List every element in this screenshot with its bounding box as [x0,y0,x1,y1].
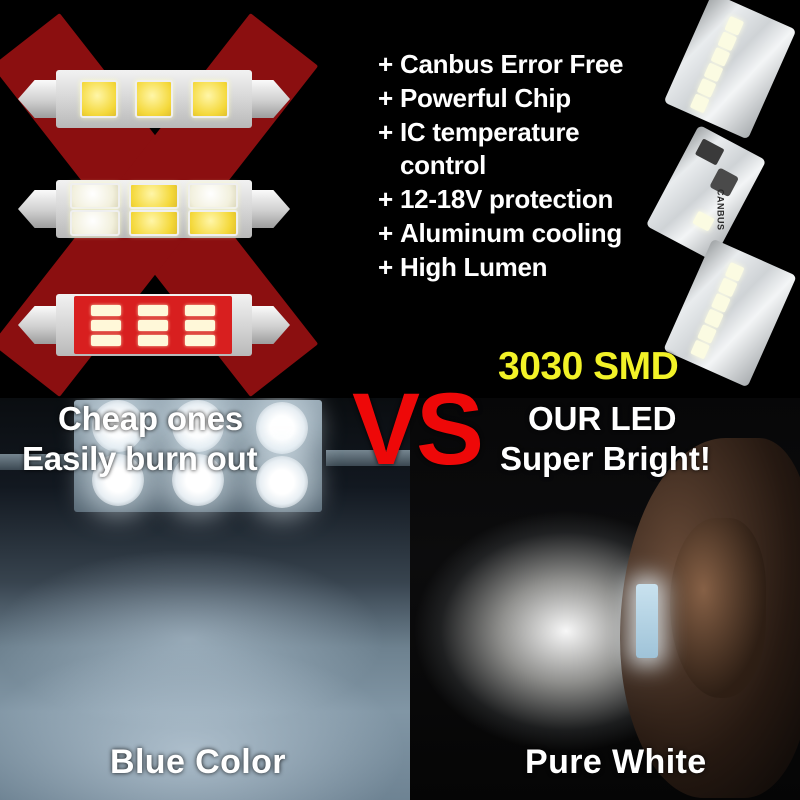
smd-chip [129,183,179,209]
smd-chip [91,320,121,331]
smd-chip [129,210,179,236]
smd-column [138,303,168,348]
feature-item: +IC temperature [378,116,688,150]
smd-chip [138,335,168,346]
feature-text: Powerful Chip [400,83,571,113]
lit-bulb-glass [636,584,658,658]
bullet-plus-icon: + [378,251,400,285]
canbus-marking: CANBUS [716,189,726,231]
feature-item: +Aluminum cooling [378,217,688,251]
feature-item: +Canbus Error Free [378,48,688,82]
cheap-bulb-festoon-6-smd [18,172,290,246]
smd-chip [185,320,215,331]
cheap-bulb-festoon-3-smd [18,62,290,136]
smd-chip [91,305,121,316]
smd-chip [91,335,121,346]
product-comparison-ad: +Canbus Error Free +Powerful Chip +IC te… [0,0,800,800]
vs-label: VS [352,378,480,480]
caption-blue-color: Blue Color [110,743,286,782]
smd-chip [70,183,120,209]
headline-band: Cheap ones Easily burn out VS OUR LED Su… [0,392,800,502]
feature-item: +Powerful Chip [378,82,688,116]
bulb-pcb-red [74,296,232,354]
smd-chip [188,183,238,209]
caption-pure-white: Pure White [525,743,707,782]
cheap-title: Cheap ones [58,400,243,438]
feature-text: control [400,150,486,180]
bullet-plus-icon: + [378,82,400,116]
fingers-silhouette [670,518,766,698]
feature-item: +High Lumen [378,251,688,285]
feature-text: High Lumen [400,252,547,282]
bullet-plus-icon: + [378,217,400,251]
cheap-bulb-festoon-red-pcb [18,284,290,366]
smd-chip [135,80,173,118]
feature-item: +12-18V protection [378,183,688,217]
bullet-plus-icon: + [378,48,400,82]
smd-chip [188,210,238,236]
smd-column [91,303,121,348]
smd-chip [138,305,168,316]
smd-column [185,303,215,348]
top-section: +Canbus Error Free +Powerful Chip +IC te… [0,0,800,400]
feature-item-continued: control [378,149,688,183]
bulb-pcb [56,70,252,128]
our-led-title: OUR LED [528,400,677,438]
smd-chip [138,320,168,331]
bullet-plus-icon: + [378,183,400,217]
smd-chip [185,335,215,346]
smd-chip [80,80,118,118]
feature-text: 12-18V protection [400,184,613,214]
cheap-subtitle: Easily burn out [22,440,257,478]
feature-text: Aluminum cooling [400,218,622,248]
bullet-plus-icon: + [378,116,400,150]
feature-list: +Canbus Error Free +Powerful Chip +IC te… [378,48,688,285]
bulb-body [56,180,252,238]
feature-text: Canbus Error Free [400,49,623,79]
bulb-body [56,70,252,128]
bulb-pcb [56,180,252,238]
smd-chip [70,210,120,236]
chip-type-label: 3030 SMD [498,345,678,389]
feature-text: IC temperature [400,117,579,147]
smd-chip [191,80,229,118]
our-led-subtitle: Super Bright! [500,440,711,478]
smd-chip [185,305,215,316]
